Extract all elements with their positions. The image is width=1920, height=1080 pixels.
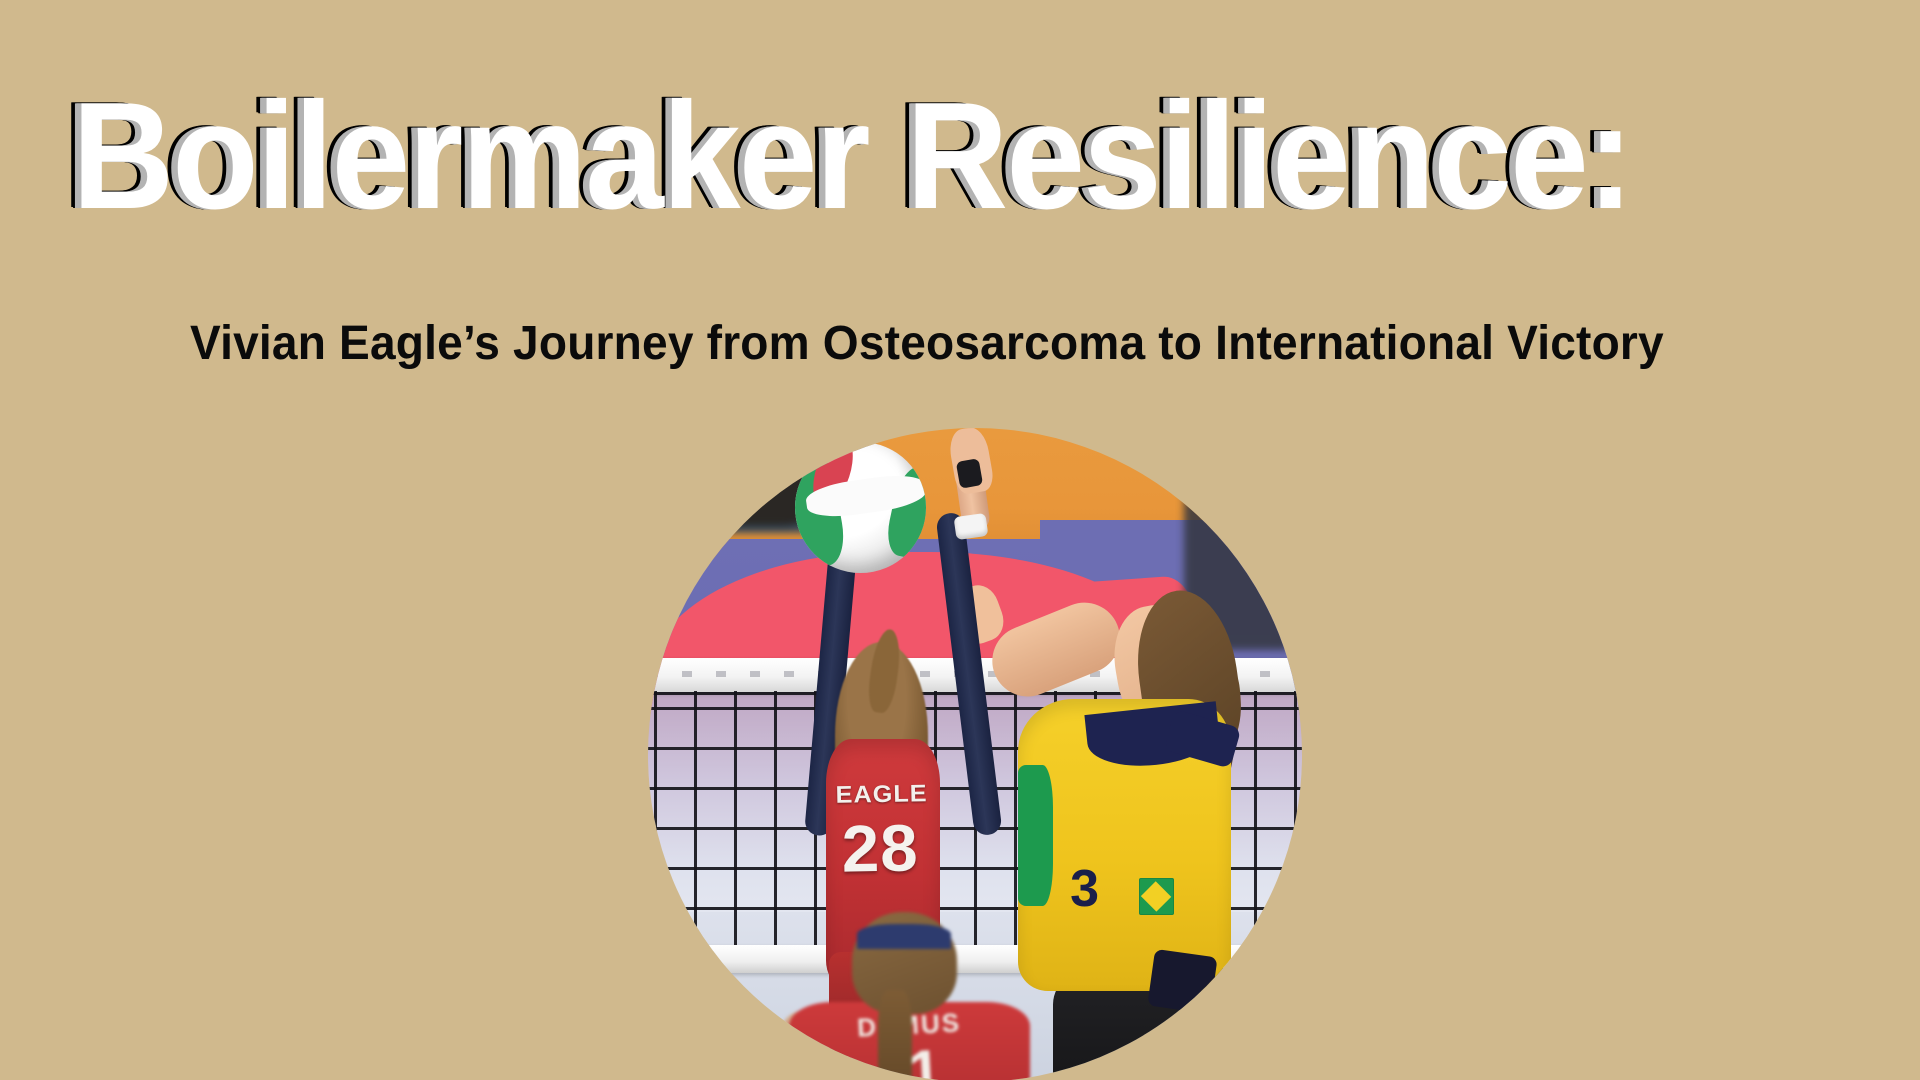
- title-block: Boilermaker Resilience:: [0, 86, 1920, 226]
- opponent-arm-sleeve: [1147, 949, 1218, 1014]
- eagle-right-wristband: [953, 513, 988, 540]
- volleyball-icon: [795, 442, 926, 573]
- title-slide: Boilermaker Resilience: Vivian Eagle’s J…: [0, 0, 1920, 1080]
- athlete-demus: DEMUS 11: [779, 912, 1041, 1080]
- eagle-right-arm: [936, 512, 1004, 837]
- brazil-flag-icon: [1139, 878, 1174, 916]
- eagle-jersey-name: EAGLE: [829, 780, 934, 810]
- demus-headband: [857, 924, 951, 950]
- demus-braid: [878, 990, 912, 1080]
- page-subtitle: Vivian Eagle’s Journey from Osteosarcoma…: [190, 316, 1664, 372]
- hero-photo: 3 EAGLE 28: [648, 428, 1302, 1080]
- eagle-right-glove-pad: [956, 459, 983, 490]
- page-title: Boilermaker Resilience:: [72, 86, 1632, 226]
- hero-photo-circle: 3 EAGLE 28: [648, 428, 1302, 1080]
- eagle-jersey-number: 28: [827, 809, 933, 887]
